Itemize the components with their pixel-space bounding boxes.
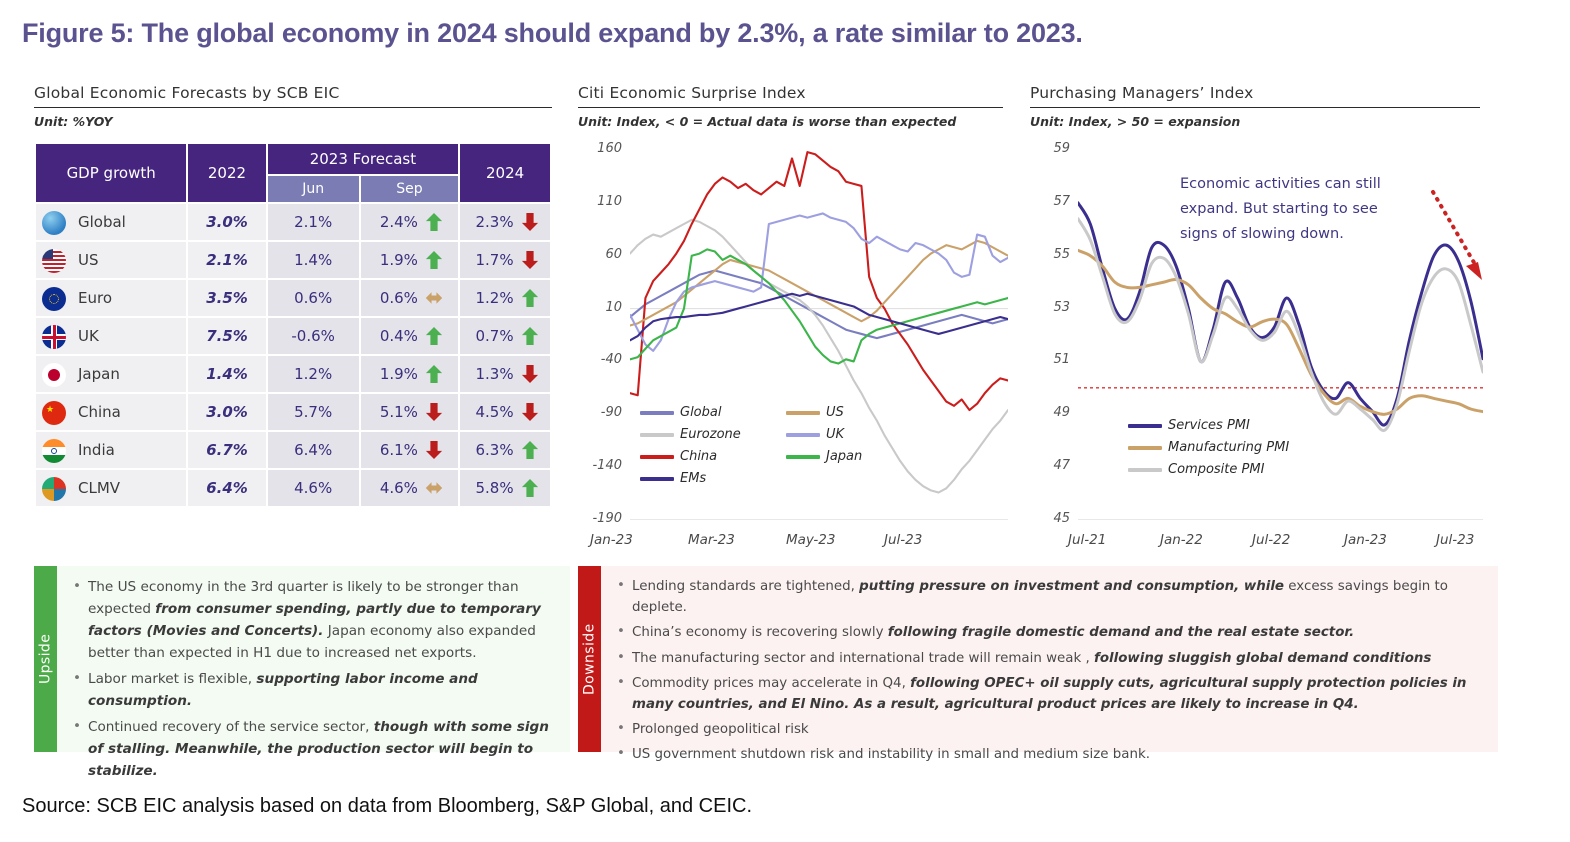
cell-jun: 4.6% xyxy=(268,470,359,506)
y-tick-label: 45 xyxy=(1030,511,1070,526)
arrow-up-icon xyxy=(521,478,539,498)
th-gdp-growth: GDP growth xyxy=(36,144,186,202)
cell-sep: 1.9% xyxy=(361,242,459,278)
legend-item-japan: Japan xyxy=(786,449,906,464)
cell-2024: 5.8% xyxy=(460,470,550,506)
cell-2022: 3.5% xyxy=(188,280,265,316)
country-label: China xyxy=(78,403,121,421)
cell-jun: 2.1% xyxy=(268,204,359,240)
y-tick-label: 55 xyxy=(1030,247,1070,262)
gdp-growth-table: GDP growth 2022 2023 Forecast 2024 Jun S… xyxy=(34,142,552,508)
legend-item-ems: EMs xyxy=(640,471,760,486)
arrow-down-icon xyxy=(425,402,443,422)
x-tick-label: Jul-21 xyxy=(1068,532,1106,548)
pmi-annotation: Economic activities can still expand. Bu… xyxy=(1180,172,1395,247)
arrow-up-icon xyxy=(425,212,443,232)
risk-bullet: China’s economy is recovering slowly fol… xyxy=(615,622,1486,643)
legend-item-us: US xyxy=(786,405,906,420)
cell-2022: 2.1% xyxy=(188,242,265,278)
legend-label: Eurozone xyxy=(680,427,741,442)
country-label: US xyxy=(78,251,99,269)
legend-swatch xyxy=(640,455,674,459)
row-country-global: Global xyxy=(36,204,186,240)
flag-in-icon xyxy=(42,439,66,463)
y-tick-label: 110 xyxy=(578,194,622,209)
y-tick-label: 10 xyxy=(578,300,622,315)
y-tick-label: 59 xyxy=(1030,141,1070,156)
legend-swatch xyxy=(1128,424,1162,428)
risk-bullet: Labor market is flexible, supporting lab… xyxy=(71,668,558,712)
source-note: Source: SCB EIC analysis based on data f… xyxy=(22,795,752,818)
upside-body: The US economy in the 3rd quarter is lik… xyxy=(57,566,570,752)
cell-2022: 6.7% xyxy=(188,432,265,468)
country-label: UK xyxy=(78,327,99,345)
citi-surprise-chart: 1601106010-40-90-140-190 GlobalUSEurozon… xyxy=(578,150,1008,550)
citi-legend: GlobalUSEurozoneUKChinaJapanEMs xyxy=(640,405,930,493)
flag-us-icon xyxy=(42,249,66,273)
legend-item-composite-pmi: Composite PMI xyxy=(1128,462,1289,477)
risk-bullet: US government shutdown risk and instabil… xyxy=(615,744,1486,765)
cell-2024: 1.2% xyxy=(460,280,550,316)
flag-uk-icon xyxy=(42,325,66,349)
cell-2022: 6.4% xyxy=(188,470,265,506)
legend-item-global: Global xyxy=(640,405,760,420)
table-panel-title: Global Economic Forecasts by SCB EIC xyxy=(34,84,552,102)
legend-label: Global xyxy=(680,405,721,420)
citi-panel-unit: Unit: Index, < 0 = Actual data is worse … xyxy=(578,114,1003,129)
cell-2024: 6.3% xyxy=(460,432,550,468)
legend-item-eurozone: Eurozone xyxy=(640,427,760,442)
row-country-china: ★China xyxy=(36,394,186,430)
legend-label: UK xyxy=(826,427,844,442)
legend-swatch xyxy=(786,433,820,437)
series-line-manufacturing-pmi xyxy=(1078,250,1483,414)
row-country-clmv: CLMV xyxy=(36,470,186,506)
x-tick-label: Jan-23 xyxy=(590,532,633,548)
y-tick-label: 49 xyxy=(1030,405,1070,420)
risk-bullet: Continued recovery of the service sector… xyxy=(71,716,558,782)
y-tick-label: 53 xyxy=(1030,300,1070,315)
table-header-row: GDP growth 2022 2023 Forecast 2024 xyxy=(36,144,550,174)
y-tick-label: 57 xyxy=(1030,194,1070,209)
country-label: Global xyxy=(78,213,126,231)
table-panel-unit: Unit: %YOY xyxy=(34,114,552,129)
cell-2022: 1.4% xyxy=(188,356,265,392)
legend-item-services-pmi: Services PMI xyxy=(1128,418,1289,433)
table-row: ★China3.0%5.7%5.1%4.5% xyxy=(36,394,550,430)
series-line-global xyxy=(630,271,1008,339)
flag-clmv-icon xyxy=(42,477,66,501)
y-tick-label: -90 xyxy=(578,405,622,420)
th-sep: Sep xyxy=(361,176,459,202)
citi-panel-rule xyxy=(578,107,1003,108)
cell-sep: 5.1% xyxy=(361,394,459,430)
downside-tab-label: Downside xyxy=(578,566,601,752)
cell-sep: 0.6% xyxy=(361,280,459,316)
legend-swatch xyxy=(786,455,820,459)
x-tick-label: Jul-22 xyxy=(1252,532,1290,548)
row-country-us: US xyxy=(36,242,186,278)
cell-sep: 2.4% xyxy=(361,204,459,240)
y-tick-label: -40 xyxy=(578,352,622,367)
downside-risk-panel: Downside Lending standards are tightened… xyxy=(578,566,1498,752)
cell-2024: 0.7% xyxy=(460,318,550,354)
y-tick-label: 51 xyxy=(1030,352,1070,367)
cell-sep: 1.9% xyxy=(361,356,459,392)
cell-jun: 6.4% xyxy=(268,432,359,468)
country-label: CLMV xyxy=(78,479,120,497)
table-row: US2.1%1.4%1.9%1.7% xyxy=(36,242,550,278)
risk-bullet: Prolonged geopolitical risk xyxy=(615,719,1486,740)
upside-risk-panel: Upside The US economy in the 3rd quarter… xyxy=(34,566,570,752)
risk-bullet: Lending standards are tightened, putting… xyxy=(615,576,1486,618)
country-label: Japan xyxy=(78,365,120,383)
cell-jun: 1.4% xyxy=(268,242,359,278)
arrow-flat-icon xyxy=(425,288,443,308)
arrow-up-icon xyxy=(425,250,443,270)
arrow-down-icon xyxy=(521,402,539,422)
citi-panel-title: Citi Economic Surprise Index xyxy=(578,84,1003,102)
legend-swatch xyxy=(1128,468,1162,472)
cell-2022: 3.0% xyxy=(188,394,265,430)
y-tick-label: 160 xyxy=(578,141,622,156)
legend-label: US xyxy=(826,405,844,420)
table-row: Global3.0%2.1%2.4%2.3% xyxy=(36,204,550,240)
flag-eu-icon xyxy=(42,287,66,311)
row-country-india: India xyxy=(36,432,186,468)
cell-sep: 4.6% xyxy=(361,470,459,506)
y-tick-label: 60 xyxy=(578,247,622,262)
y-tick-label: 47 xyxy=(1030,458,1070,473)
cell-jun: -0.6% xyxy=(268,318,359,354)
pmi-panel-rule xyxy=(1030,107,1480,108)
table-row: CLMV6.4%4.6%4.6%5.8% xyxy=(36,470,550,506)
risk-bullet: The manufacturing sector and internation… xyxy=(615,648,1486,669)
flag-jp-icon xyxy=(42,363,66,387)
legend-label: China xyxy=(680,449,717,464)
table-panel-header: Global Economic Forecasts by SCB EIC Uni… xyxy=(34,84,552,129)
arrow-flat-icon xyxy=(425,478,443,498)
legend-label: Services PMI xyxy=(1168,418,1250,433)
cell-jun: 1.2% xyxy=(268,356,359,392)
arrow-down-icon xyxy=(521,212,539,232)
pmi-annotation-text: Economic activities can still expand. Bu… xyxy=(1180,176,1381,242)
x-tick-label: Mar-23 xyxy=(688,532,735,548)
row-country-japan: Japan xyxy=(36,356,186,392)
citi-panel-header: Citi Economic Surprise Index Unit: Index… xyxy=(578,84,1003,129)
cell-2024: 1.7% xyxy=(460,242,550,278)
th-2023-forecast: 2023 Forecast xyxy=(268,144,459,174)
cell-2024: 1.3% xyxy=(460,356,550,392)
legend-swatch xyxy=(640,477,674,481)
x-tick-label: Jul-23 xyxy=(884,532,922,548)
x-tick-label: Jul-23 xyxy=(1436,532,1474,548)
x-tick-label: Jan-22 xyxy=(1160,532,1203,548)
pmi-chart: 5957555351494745 Economic activities can… xyxy=(1030,150,1485,550)
legend-item-manufacturing-pmi: Manufacturing PMI xyxy=(1128,440,1289,455)
arrow-up-icon xyxy=(521,440,539,460)
arrow-down-icon xyxy=(521,250,539,270)
flag-cn-icon: ★ xyxy=(42,401,66,425)
pmi-panel-header: Purchasing Managers’ Index Unit: Index, … xyxy=(1030,84,1480,129)
cell-jun: 0.6% xyxy=(268,280,359,316)
arrow-down-icon xyxy=(521,364,539,384)
x-tick-label: May-23 xyxy=(786,532,835,548)
y-tick-label: -140 xyxy=(578,458,622,473)
country-label: Euro xyxy=(78,289,112,307)
th-2024: 2024 xyxy=(460,144,550,202)
legend-swatch xyxy=(786,411,820,415)
risk-bullet: Commodity prices may accelerate in Q4, f… xyxy=(615,673,1486,715)
pmi-legend: Services PMIManufacturing PMIComposite P… xyxy=(1128,418,1289,484)
row-country-euro: Euro xyxy=(36,280,186,316)
downside-body: Lending standards are tightened, putting… xyxy=(601,566,1498,752)
slowdown-arrow-head xyxy=(1466,262,1482,280)
row-country-uk: UK xyxy=(36,318,186,354)
table-row: India6.7%6.4%6.1%6.3% xyxy=(36,432,550,468)
legend-label: Composite PMI xyxy=(1168,462,1264,477)
th-2022: 2022 xyxy=(188,144,265,202)
series-line-composite-pmi xyxy=(1078,219,1483,431)
th-jun: Jun xyxy=(268,176,359,202)
cell-2022: 3.0% xyxy=(188,204,265,240)
legend-swatch xyxy=(640,411,674,415)
cell-2022: 7.5% xyxy=(188,318,265,354)
cell-2024: 4.5% xyxy=(460,394,550,430)
arrow-up-icon xyxy=(521,288,539,308)
table-body: Global3.0%2.1%2.4%2.3%US2.1%1.4%1.9%1.7%… xyxy=(36,204,550,506)
cell-sep: 6.1% xyxy=(361,432,459,468)
table-row: Japan1.4%1.2%1.9%1.3% xyxy=(36,356,550,392)
table-panel-rule xyxy=(34,107,552,108)
legend-swatch xyxy=(640,433,674,437)
figure-title: Figure 5: The global economy in 2024 sho… xyxy=(22,18,1083,49)
legend-item-china: China xyxy=(640,449,760,464)
risk-bullet: The US economy in the 3rd quarter is lik… xyxy=(71,576,558,664)
legend-label: Japan xyxy=(826,449,862,464)
y-tick-label: -190 xyxy=(578,511,622,526)
arrow-up-icon xyxy=(425,364,443,384)
flag-global-icon xyxy=(42,211,66,235)
cell-sep: 0.4% xyxy=(361,318,459,354)
cell-jun: 5.7% xyxy=(268,394,359,430)
legend-item-uk: UK xyxy=(786,427,906,442)
arrow-down-icon xyxy=(425,440,443,460)
arrow-up-icon xyxy=(425,326,443,346)
legend-label: EMs xyxy=(680,471,706,486)
table-row: Euro3.5%0.6%0.6%1.2% xyxy=(36,280,550,316)
cell-2024: 2.3% xyxy=(460,204,550,240)
table-row: UK7.5%-0.6%0.4%0.7% xyxy=(36,318,550,354)
legend-label: Manufacturing PMI xyxy=(1168,440,1289,455)
upside-tab-label: Upside xyxy=(34,566,57,752)
pmi-panel-unit: Unit: Index, > 50 = expansion xyxy=(1030,114,1480,129)
pmi-panel-title: Purchasing Managers’ Index xyxy=(1030,84,1480,102)
country-label: India xyxy=(78,441,115,459)
legend-swatch xyxy=(1128,446,1162,450)
x-tick-label: Jan-23 xyxy=(1344,532,1387,548)
arrow-up-icon xyxy=(521,326,539,346)
